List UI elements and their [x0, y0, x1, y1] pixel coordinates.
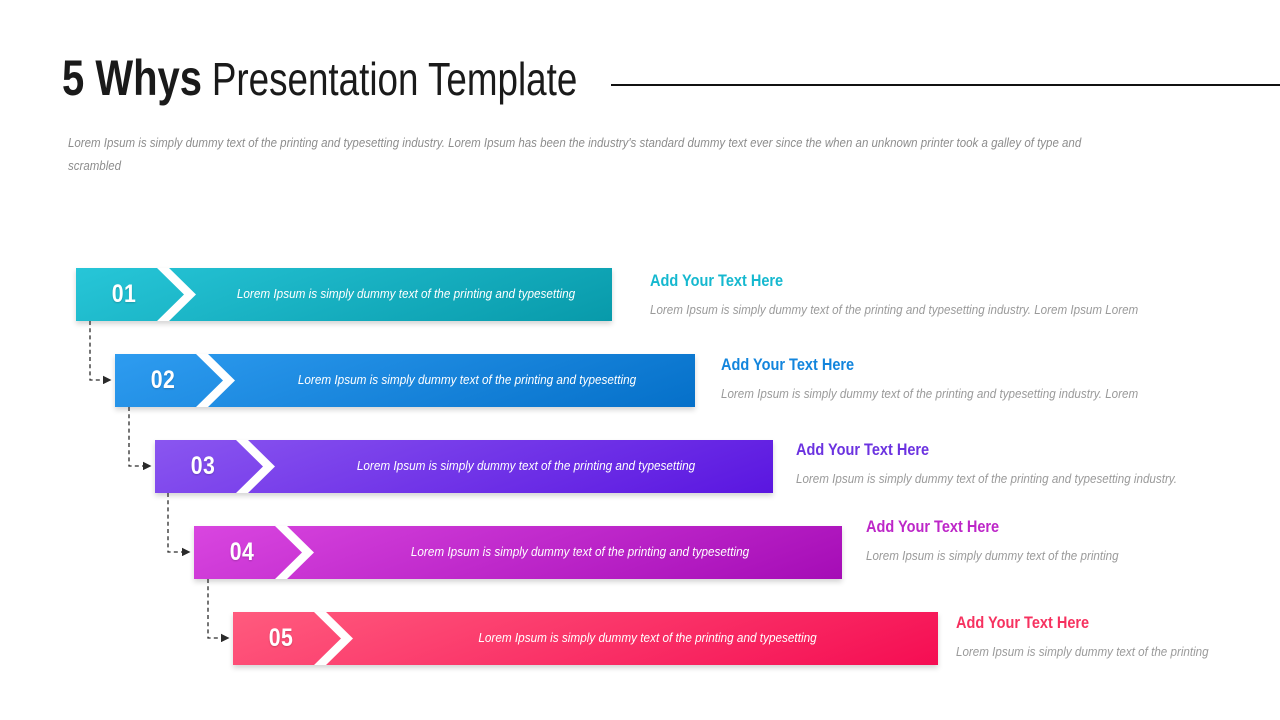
step-row: 03Lorem Ipsum is simply dummy text of th…: [155, 440, 773, 493]
step-number: 05: [240, 612, 322, 665]
step-description-block: Add Your Text HereLorem Ipsum is simply …: [721, 355, 1170, 403]
step-row: 04Lorem Ipsum is simply dummy text of th…: [194, 526, 842, 579]
step-description-block: Add Your Text HereLorem Ipsum is simply …: [956, 613, 1228, 661]
step-bar[interactable]: 03Lorem Ipsum is simply dummy text of th…: [155, 440, 773, 493]
step-description-heading[interactable]: Add Your Text Here: [796, 440, 1157, 460]
step-number: 03: [162, 440, 244, 493]
step-description-heading[interactable]: Add Your Text Here: [956, 613, 1195, 633]
step-description-body: Lorem Ipsum is simply dummy text of the …: [650, 301, 1138, 319]
step-description-body: Lorem Ipsum is simply dummy text of the …: [866, 547, 1119, 565]
step-description-block: Add Your Text HereLorem Ipsum is simply …: [866, 517, 1138, 565]
step-bar-text: Lorem Ipsum is simply dummy text of the …: [374, 612, 920, 665]
step-bar[interactable]: 02Lorem Ipsum is simply dummy text of th…: [115, 354, 695, 407]
step-description-heading[interactable]: Add Your Text Here: [721, 355, 1116, 375]
step-row: 05Lorem Ipsum is simply dummy text of th…: [233, 612, 938, 665]
step-number: 02: [122, 354, 204, 407]
chevron-right-icon: [195, 354, 235, 407]
step-bar[interactable]: 01Lorem Ipsum is simply dummy text of th…: [76, 268, 612, 321]
step-bar[interactable]: 05Lorem Ipsum is simply dummy text of th…: [233, 612, 938, 665]
step-description-block: Add Your Text HereLorem Ipsum is simply …: [796, 440, 1206, 488]
step-row: 01Lorem Ipsum is simply dummy text of th…: [76, 268, 612, 321]
chevron-right-icon: [156, 268, 196, 321]
step-number: 04: [201, 526, 283, 579]
step-row: 02Lorem Ipsum is simply dummy text of th…: [115, 354, 695, 407]
step-description-heading[interactable]: Add Your Text Here: [866, 517, 1105, 537]
step-description-block: Add Your Text HereLorem Ipsum is simply …: [650, 271, 1175, 319]
step-bar-text: Lorem Ipsum is simply dummy text of the …: [334, 526, 827, 579]
chevron-right-icon: [235, 440, 275, 493]
step-description-body: Lorem Ipsum is simply dummy text of the …: [956, 643, 1209, 661]
chevron-right-icon: [274, 526, 314, 579]
step-description-body: Lorem Ipsum is simply dummy text of the …: [796, 470, 1177, 488]
step-number: 01: [83, 268, 165, 321]
step-description-heading[interactable]: Add Your Text Here: [650, 271, 1112, 291]
step-bar-text: Lorem Ipsum is simply dummy text of the …: [253, 354, 682, 407]
step-bar[interactable]: 04Lorem Ipsum is simply dummy text of th…: [194, 526, 842, 579]
five-whys-diagram: 01Lorem Ipsum is simply dummy text of th…: [0, 0, 1280, 720]
chevron-right-icon: [313, 612, 353, 665]
step-bar-text: Lorem Ipsum is simply dummy text of the …: [212, 268, 599, 321]
step-description-body: Lorem Ipsum is simply dummy text of the …: [721, 385, 1138, 403]
step-bar-text: Lorem Ipsum is simply dummy text of the …: [294, 440, 758, 493]
